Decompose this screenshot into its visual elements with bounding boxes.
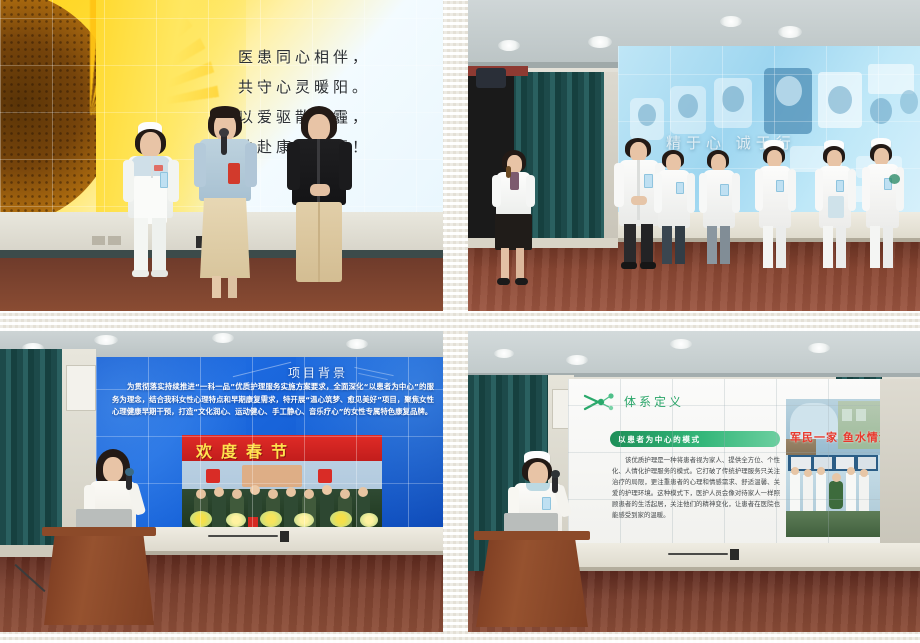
embedded-photo-bottom-left: 欢度春节 [182,435,382,527]
podium-bottom-left [44,531,154,625]
poem-line-3: 以爱驱散阴霾， [238,102,443,132]
slide-title-bottom-right: 体系定义 [624,393,684,410]
slide-body-bottom-right: 该优质护理是一种将患者视为家人、提供全方位、个性化、人情化护理服务的模式。它打破… [612,455,780,521]
podium-bottom-right [476,535,588,627]
slide-title-bottom-left: 项目背景 [288,364,348,381]
slide-body-bottom-left: 为贯彻落实持续推进“一科一品”优质护理服务实施方案要求，全面深化“以患者为中心”… [112,381,434,419]
photo-collage: 医患同心相伴， 共守心灵暖阳。 以爱驱散阴霾， 共赴康复同行！ [0,0,920,643]
photo-bottom-left[interactable]: 项目背景 为贯彻落实持续推进“一科一品”优质护理服务实施方案要求，全面深化“以患… [0,331,443,632]
photo-top-left[interactable]: 医患同心相伴， 共守心灵暖阳。 以爱驱散阴霾， 共赴康复同行！ [0,0,443,311]
embedded-photo-bottom-right: 军民一家 鱼水情深 [786,399,880,537]
poem-line-1: 医患同心相伴， [238,42,443,72]
embedded-banner-bottom-right: 军民一家 鱼水情深 [790,429,880,445]
section-label-bottom-right: 以患者为中心的模式 [618,434,701,445]
photo-top-right[interactable]: 精于心 诚于行 [468,0,920,311]
poem-line-2: 共守心灵暖阳。 [238,72,443,102]
slide-bottom-left: 项目背景 为贯彻落实持续推进“一科一品”优质护理服务实施方案要求，全面深化“以患… [96,357,443,531]
embedded-banner-bottom-left: 欢度春节 [196,438,296,462]
photo-bottom-right[interactable]: 体系定义 以患者为中心的模式 该优质护理是一种将患者视为家人、提供全方位、个性化… [468,331,920,632]
node-icon-bottom-right [582,391,616,413]
slide-bottom-right: 体系定义 以患者为中心的模式 该优质护理是一种将患者视为家人、提供全方位、个性化… [568,379,880,547]
